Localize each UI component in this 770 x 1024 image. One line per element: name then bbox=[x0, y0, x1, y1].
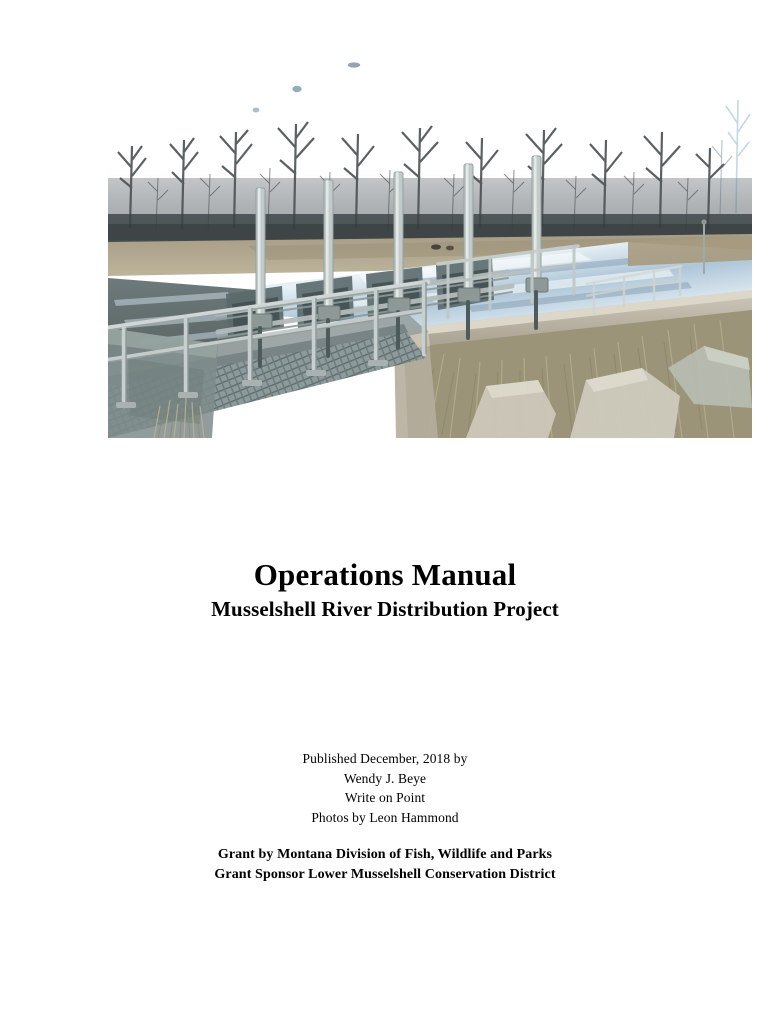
document-title: Operations Manual bbox=[0, 558, 770, 591]
sky-speck-c bbox=[348, 62, 360, 67]
livestock-speck bbox=[431, 244, 441, 249]
credit-line-photographer: Photos by Leon Hammond bbox=[0, 808, 770, 828]
document-subtitle: Musselshell River Distribution Project bbox=[0, 597, 770, 622]
diversion-structure-illustration bbox=[108, 28, 752, 438]
grant-line-funder: Grant by Montana Division of Fish, Wildl… bbox=[0, 845, 770, 865]
publication-credits: Published December, 2018 by Wendy J. Bey… bbox=[0, 749, 770, 827]
sky-speck-a bbox=[253, 108, 260, 113]
credit-line-publisher: Write on Point bbox=[0, 788, 770, 808]
livestock-speck bbox=[446, 246, 454, 251]
credit-line-published: Published December, 2018 by bbox=[0, 749, 770, 769]
cover-page: Operations Manual Musselshell River Dist… bbox=[0, 0, 770, 1024]
grant-acknowledgement: Grant by Montana Division of Fish, Wildl… bbox=[0, 845, 770, 885]
title-block: Operations Manual Musselshell River Dist… bbox=[0, 558, 770, 622]
grant-line-sponsor: Grant Sponsor Lower Musselshell Conserva… bbox=[0, 865, 770, 885]
cover-photo bbox=[108, 28, 752, 438]
sky-speck-b bbox=[292, 86, 301, 92]
credit-line-author: Wendy J. Beye bbox=[0, 769, 770, 789]
